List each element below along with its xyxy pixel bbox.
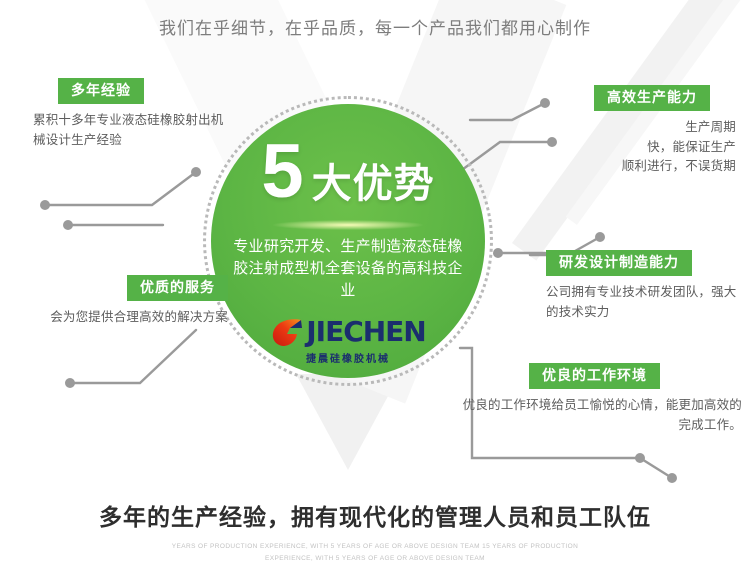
feature-quality-service[interactable]: 优质的服务 会为您提供合理高效的解决方案 xyxy=(20,275,228,328)
feature-body: 优良的工作环境给员工愉悦的心情，能更加高效的完成工作。 xyxy=(460,396,742,435)
feature-body: 累积十多年专业液态硅橡胶射出机械设计生产经验 xyxy=(33,111,228,150)
hub-glow-decor xyxy=(273,220,423,230)
hub-number: 5 xyxy=(261,134,301,210)
infographic-canvas: 我们在乎细节，在乎品质，每一个产品我们都用心制作 5 大优势 专业研究开发、生产… xyxy=(0,0,750,568)
feature-badge: 研发设计制造能力 xyxy=(546,250,692,276)
bottom-english-line-2: EXPERIENCE, WITH 5 YEARS OF AGE OR ABOVE… xyxy=(0,553,750,565)
logo-swoosh-icon xyxy=(270,317,304,347)
feature-badge: 高效生产能力 xyxy=(594,85,710,111)
feature-years-experience[interactable]: 多年经验 累积十多年专业液态硅橡胶射出机械设计生产经验 xyxy=(33,78,228,150)
feature-badge: 优良的工作环境 xyxy=(529,363,660,389)
feature-rd-design-manufacture[interactable]: 研发设计制造能力 公司拥有专业技术研发团队，强大的技术实力 xyxy=(546,250,742,322)
feature-body: 生产周期 快，能保证生产 顺利进行，不误货期 xyxy=(546,118,736,176)
feature-body: 公司拥有专业技术研发团队，强大的技术实力 xyxy=(546,283,742,322)
bottom-english-line-1: YEARS OF PRODUCTION EXPERIENCE, WITH 5 Y… xyxy=(0,541,750,553)
feature-work-environment[interactable]: 优良的工作环境 优良的工作环境给员工愉悦的心情，能更加高效的完成工作。 xyxy=(460,363,742,435)
logo-wordmark: JIECHEN xyxy=(306,318,426,346)
feature-badge: 多年经验 xyxy=(58,78,144,104)
feature-body: 会为您提供合理高效的解决方案 xyxy=(20,308,228,327)
hub-heading: 5 大优势 xyxy=(261,134,434,210)
feature-badge: 优质的服务 xyxy=(127,275,228,301)
bottom-english-caption: YEARS OF PRODUCTION EXPERIENCE, WITH 5 Y… xyxy=(0,541,750,566)
logo-chinese-name: 捷晨硅橡胶机械 xyxy=(306,350,390,365)
company-logo: JIECHEN 捷晨硅橡胶机械 xyxy=(270,317,426,365)
center-hub: 5 大优势 专业研究开发、生产制造液态硅橡胶注射成型机全套设备的高科技企业 xyxy=(203,96,493,386)
hub-number-label: 大优势 xyxy=(312,164,435,204)
hub-subtitle: 专业研究开发、生产制造液态硅橡胶注射成型机全套设备的高科技企业 xyxy=(228,236,468,301)
hub-circle: 5 大优势 专业研究开发、生产制造液态硅橡胶注射成型机全套设备的高科技企业 xyxy=(211,104,485,378)
top-headline: 我们在乎细节，在乎品质，每一个产品我们都用心制作 xyxy=(0,14,750,39)
bottom-headline: 多年的生产经验，拥有现代化的管理人员和员工队伍 xyxy=(0,498,750,532)
hub-pointer-triangle xyxy=(296,374,400,470)
logo-row: JIECHEN xyxy=(270,317,426,347)
feature-production-capacity[interactable]: 高效生产能力 生产周期 快，能保证生产 顺利进行，不误货期 xyxy=(546,85,736,177)
